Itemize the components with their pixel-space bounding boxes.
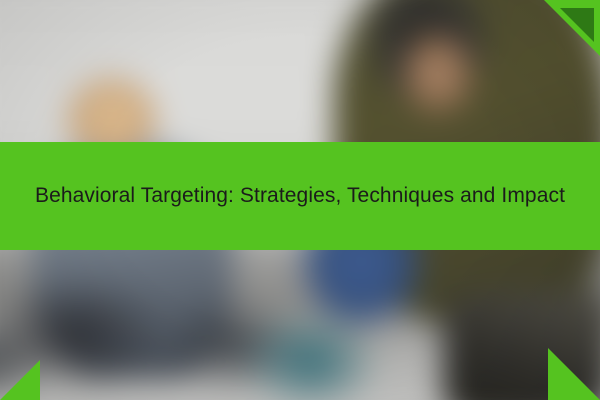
corner-accent-bottom-left (0, 360, 40, 400)
article-banner: Behavioral Targeting: Strategies, Techni… (0, 0, 600, 400)
title-band: Behavioral Targeting: Strategies, Techni… (0, 142, 600, 250)
corner-accent-top-right-inner (560, 8, 594, 42)
corner-accent-bottom-right (548, 348, 600, 400)
banner-title: Behavioral Targeting: Strategies, Techni… (1, 179, 599, 213)
